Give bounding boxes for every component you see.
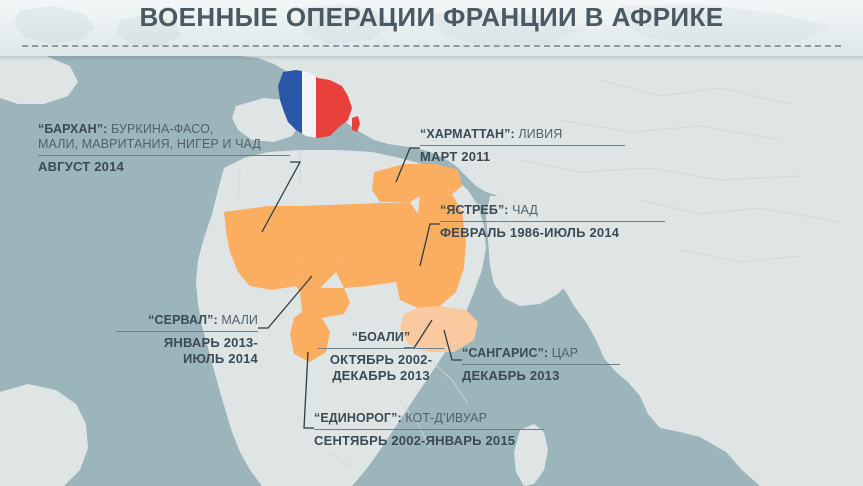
operation-label-sangaris: “САНГАРИС”: ЦАР ДЕКАБРЬ 2013 <box>462 346 620 384</box>
page-title: ВОЕННЫЕ ОПЕРАЦИИ ФРАНЦИИ В АФРИКЕ <box>0 2 863 33</box>
operation-sangaris-dates: ДЕКАБРЬ 2013 <box>462 368 620 384</box>
operation-harmattan-countries: ЛИВИЯ <box>518 127 562 141</box>
operation-label-barkhan: “БАРХАН”: БУРКИНА-ФАСО, МАЛИ, МАВРИТАНИЯ… <box>38 122 290 175</box>
operation-serval-dates-line1: ЯНВАРЬ 2013- <box>116 335 258 351</box>
operation-harmattan-rule <box>420 145 625 146</box>
operation-sangaris-rule <box>462 364 620 365</box>
operation-yastreb-name: “ЯСТРЕБ”: <box>440 203 509 217</box>
operation-label-unicorn: “ЕДИНОРОГ”: КОТ-Д’ИВУАР СЕНТЯБРЬ 2002-ЯН… <box>314 411 544 449</box>
operation-yastreb-name-line: “ЯСТРЕБ”: ЧАД <box>440 203 665 218</box>
operation-harmattan-name-line: “ХАРМАТТАН”: ЛИВИЯ <box>420 127 625 142</box>
infographic-root: ВОЕННЫЕ ОПЕРАЦИИ ФРАНЦИИ В АФРИКЕ “БАРХА… <box>0 0 863 486</box>
operation-sangaris-name: “САНГАРИС”: <box>462 346 548 360</box>
operation-harmattan-dates: МАРТ 2011 <box>420 149 625 165</box>
operation-serval-dates-line2: ИЮЛЬ 2014 <box>116 351 258 367</box>
operation-barkhan-name: “БАРХАН”: <box>38 122 107 136</box>
operation-serval-rule <box>116 331 258 332</box>
operation-barkhan-name-line: “БАРХАН”: БУРКИНА-ФАСО, <box>38 122 290 137</box>
operation-boali-dates-line1: ОКТЯБРЬ 2002- <box>318 352 444 368</box>
operation-unicorn-rule <box>314 429 544 430</box>
operation-label-serval: “СЕРВАЛ”: МАЛИ ЯНВАРЬ 2013- ИЮЛЬ 2014 <box>116 313 258 367</box>
operation-barkhan-countries-line1: БУРКИНА-ФАСО, <box>111 122 214 136</box>
operation-sangaris-name-line: “САНГАРИС”: ЦАР <box>462 346 620 361</box>
operation-yastreb-dates: ФЕВРАЛЬ 1986-ИЮЛЬ 2014 <box>440 225 665 241</box>
flag-white-band <box>302 66 316 144</box>
operation-serval-name: “СЕРВАЛ”: <box>148 313 218 327</box>
operation-harmattan-name: “ХАРМАТТАН”: <box>420 127 515 141</box>
operation-label-harmattan: “ХАРМАТТАН”: ЛИВИЯ МАРТ 2011 <box>420 127 625 165</box>
operation-barkhan-countries-line2: МАЛИ, МАВРИТАНИЯ, НИГЕР И ЧАД <box>38 137 290 152</box>
operation-barkhan-rule <box>38 155 290 156</box>
operation-yastreb-rule <box>440 221 665 222</box>
operation-unicorn-name: “ЕДИНОРОГ”: <box>314 411 402 425</box>
operation-boali-dates-line2: ДЕКАБРЬ 2013 <box>318 368 444 384</box>
operation-label-yastreb: “ЯСТРЕБ”: ЧАД ФЕВРАЛЬ 1986-ИЮЛЬ 2014 <box>440 203 665 241</box>
operation-unicorn-countries: КОТ-Д’ИВУАР <box>405 411 487 425</box>
header-bar: ВОЕННЫЕ ОПЕРАЦИИ ФРАНЦИИ В АФРИКЕ <box>0 0 863 56</box>
operation-boali-name: “БОАЛИ” <box>352 330 411 344</box>
operation-boali-name-line: “БОАЛИ” <box>318 330 444 345</box>
operation-label-boali: “БОАЛИ” ОКТЯБРЬ 2002- ДЕКАБРЬ 2013 <box>318 330 444 384</box>
operation-yastreb-countries: ЧАД <box>512 203 538 217</box>
header-shadow <box>0 56 863 61</box>
operation-serval-countries: МАЛИ <box>221 313 258 327</box>
country-burkina-faso <box>300 288 350 318</box>
operation-boali-rule <box>318 348 444 349</box>
operation-serval-name-line: “СЕРВАЛ”: МАЛИ <box>116 313 258 328</box>
operation-barkhan-dates: АВГУСТ 2014 <box>38 159 290 175</box>
header-divider <box>22 45 841 47</box>
operation-unicorn-name-line: “ЕДИНОРОГ”: КОТ-Д’ИВУАР <box>314 411 544 426</box>
operation-sangaris-countries: ЦАР <box>552 346 578 360</box>
operation-unicorn-dates: СЕНТЯБРЬ 2002-ЯНВАРЬ 2015 <box>314 433 544 449</box>
